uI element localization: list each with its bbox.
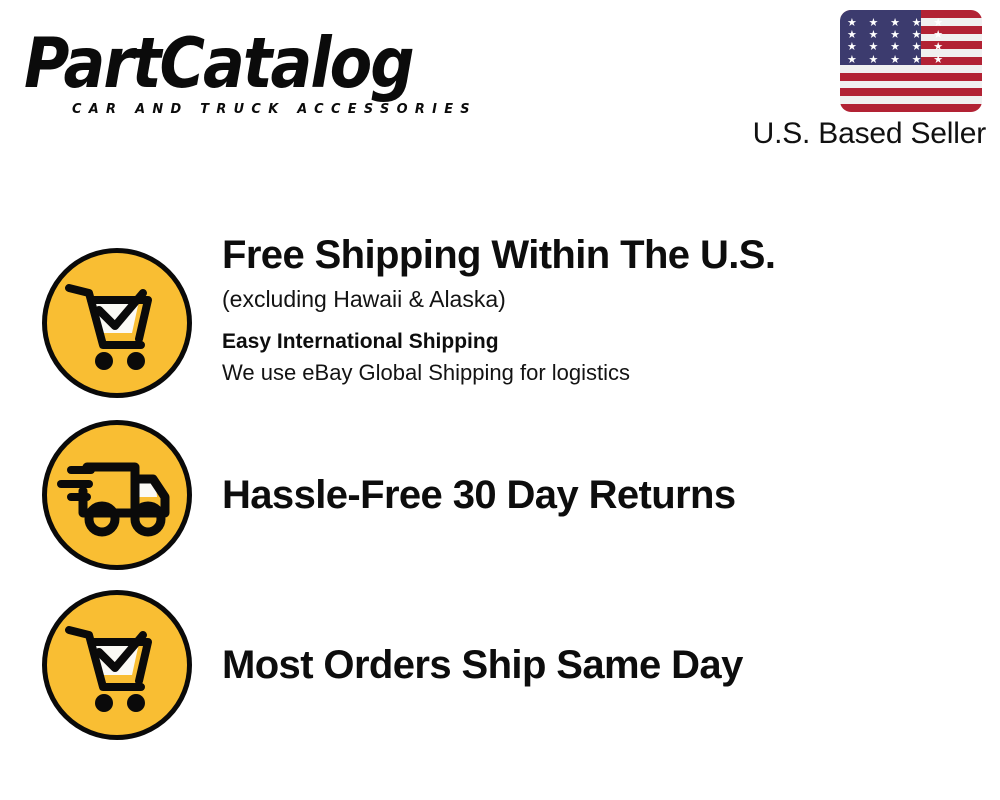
fast-delivery-truck-icon <box>42 420 192 570</box>
shopping-cart-check-icon <box>42 590 192 740</box>
shopping-cart-check-icon <box>42 248 192 398</box>
feature-text: Most Orders Ship Same Day <box>222 590 982 688</box>
feature-text: Hassle-Free 30 Day Returns <box>222 420 982 518</box>
feature-strong-text: Easy International Shipping <box>222 328 982 356</box>
feature-detail-text: We use eBay Global Shipping for logistic… <box>222 358 982 388</box>
feature-heading: Most Orders Ship Same Day <box>222 642 982 688</box>
feature-subtext: (excluding Hawaii & Alaska) <box>222 284 982 314</box>
feature-list: Free Shipping Within The U.S. (excluding… <box>0 0 1000 800</box>
feature-text: Free Shipping Within The U.S. (excluding… <box>222 248 982 388</box>
promo-banner: PartCatalog CAR AND TRUCK ACCESSORIES ★ … <box>0 0 1000 800</box>
feature-heading: Hassle-Free 30 Day Returns <box>222 472 982 518</box>
feature-heading: Free Shipping Within The U.S. <box>222 232 982 278</box>
